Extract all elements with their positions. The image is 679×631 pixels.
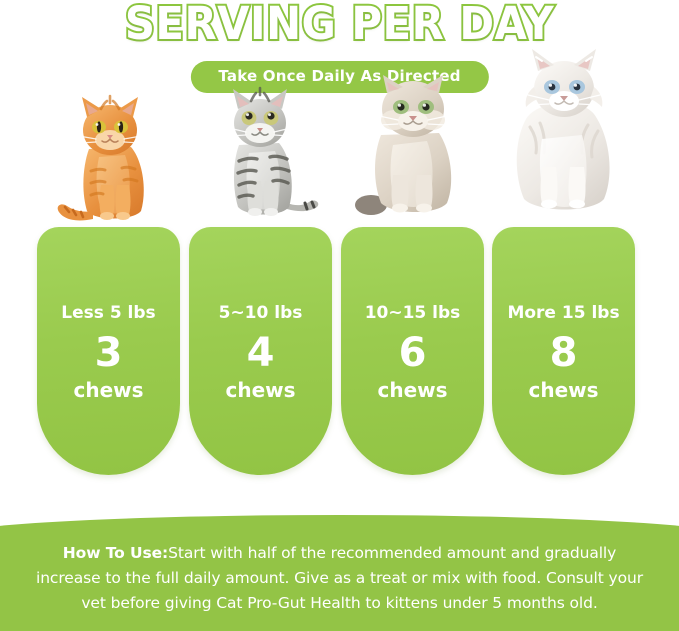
dosage-card: Less 5 lbs 3 chews [37, 227, 180, 475]
card-weight-label: 5~10 lbs [189, 303, 332, 323]
card-chew-unit: chews [492, 378, 635, 402]
card-weight-label: Less 5 lbs [37, 303, 180, 323]
card-chew-unit: chews [189, 378, 332, 402]
dosage-cards-row: Less 5 lbs 3 chews [0, 0, 679, 500]
card-chew-count: 6 [341, 330, 484, 376]
how-to-use-text: How To Use:Start with half of the recomm… [0, 541, 679, 616]
dosage-card: More 15 lbs 8 chews [492, 227, 635, 475]
card-chew-count: 3 [37, 330, 180, 376]
dosage-card: 10~15 lbs 6 chews [341, 227, 484, 475]
card-weight-label: More 15 lbs [492, 303, 635, 323]
cream-shorthair-cat-icon [349, 65, 477, 225]
card-chew-count: 8 [492, 330, 635, 376]
card-chew-count: 4 [189, 330, 332, 376]
card-chew-unit: chews [37, 378, 180, 402]
dosage-card: 5~10 lbs 4 chews [189, 227, 332, 475]
card-chew-unit: chews [341, 378, 484, 402]
how-to-use-heading: How To Use: [63, 544, 168, 562]
how-to-use-footer: How To Use:Start with half of the recomm… [0, 515, 679, 631]
silver-tabby-cat-icon [201, 81, 321, 231]
card-weight-label: 10~15 lbs [341, 303, 484, 323]
orange-tabby-cat-icon [49, 87, 169, 237]
white-longhair-cat-icon [496, 43, 632, 221]
